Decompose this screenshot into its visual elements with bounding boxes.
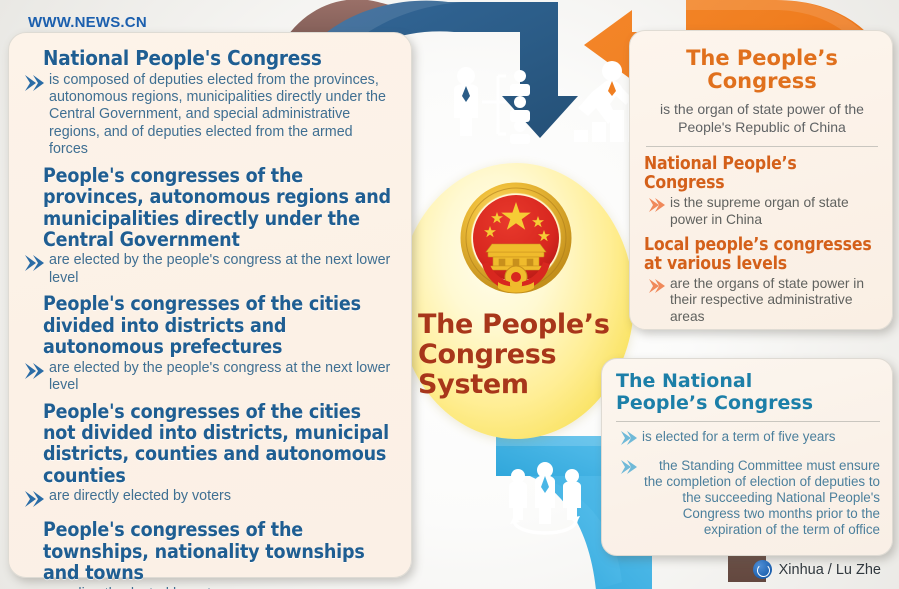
left-section-2-row: are elected by the people's congress at … [19, 360, 399, 395]
left-section-0-heading: National People's Congress [43, 47, 399, 70]
orange-item-1-body: are the organs of state power in their r… [670, 276, 880, 326]
left-panel: National People's Congress is composed o… [8, 32, 412, 578]
orange-item-1-row: are the organs of state power in their r… [644, 276, 880, 326]
left-section-1-body: are elected by the people's congress at … [49, 252, 399, 287]
left-section-3-body: are directly elected by voters [49, 488, 237, 505]
chevron-right-icon [644, 195, 670, 218]
left-section-4-heading: People's congresses of the townships, na… [43, 519, 399, 583]
npc-item-0-body: is elected for a term of five years [642, 429, 836, 445]
national-emblem-of-china-icon [452, 178, 580, 306]
chevron-right-icon [19, 360, 49, 385]
left-section-3-row: are directly elected by voters [19, 488, 399, 513]
chevron-right-icon [19, 586, 49, 589]
npc-title-line1: The National [616, 371, 880, 393]
left-section-1-heading: People's congresses of the provinces, au… [43, 165, 399, 251]
orange-item-1-heading: Local people’s congresses at various lev… [644, 236, 880, 274]
left-section-3-heading: People's congresses of the cities not di… [43, 401, 399, 487]
left-section-4-body: are directly elected by voters [49, 586, 237, 589]
credit-line: Xinhua / Lu Zhe [753, 560, 881, 579]
chevron-right-icon [19, 488, 49, 513]
chevron-right-icon [644, 276, 670, 299]
npc-title-line2: People’s Congress [616, 393, 880, 415]
chevron-right-icon [616, 429, 642, 451]
npc-panel: The National People’s Congress is electe… [601, 358, 893, 556]
orange-panel-divider [646, 146, 878, 147]
left-section-0-row: is composed of deputies elected from the… [19, 72, 399, 159]
orange-item-0-heading: National People’s Congress [644, 155, 880, 193]
chevron-right-icon [19, 252, 49, 277]
npc-item-0-row: is elected for a term of five years [616, 429, 880, 451]
center-title-line3: System [418, 370, 618, 400]
xinhua-logo-icon [753, 560, 772, 579]
left-section-4-row: are directly elected by voters [19, 586, 399, 589]
center-title: The People’s Congress System [418, 310, 618, 401]
org-chart-people-icon [444, 62, 536, 144]
site-watermark: WWW.NEWS.CN [28, 14, 147, 31]
left-section-2-body: are elected by the people's congress at … [49, 360, 399, 395]
center-title-line2: Congress [418, 340, 618, 370]
left-section-2-heading: People's congresses of the cities divide… [43, 293, 399, 357]
orange-panel-lead: is the organ of state power of the Peopl… [644, 101, 880, 136]
orange-title-line2: Congress [644, 70, 880, 93]
orange-item-0-row: is the supreme organ of state power in C… [644, 195, 880, 228]
orange-panel-title: The People’s Congress [644, 47, 880, 93]
orange-panel: The People’s Congress is the organ of st… [629, 30, 893, 330]
orange-title-line1: The People’s [644, 47, 880, 70]
orange-item-0-body: is the supreme organ of state power in C… [670, 195, 880, 228]
infographic-canvas: WWW.NEWS.CN [0, 0, 899, 589]
npc-item-1-row: the Standing Committee must ensure the c… [616, 458, 880, 538]
npc-panel-title: The National People’s Congress [616, 371, 880, 415]
npc-item-1-body: the Standing Committee must ensure the c… [642, 458, 880, 538]
center-title-line1: The People’s [418, 310, 618, 340]
left-section-1-row: are elected by the people's congress at … [19, 252, 399, 287]
chevron-right-icon [616, 458, 642, 480]
chevron-right-icon [19, 72, 49, 97]
npc-panel-divider [616, 421, 880, 422]
left-section-0-body: is composed of deputies elected from the… [49, 72, 399, 159]
credit-text: Xinhua / Lu Zhe [779, 562, 881, 578]
three-people-cycle-icon [502, 462, 588, 536]
